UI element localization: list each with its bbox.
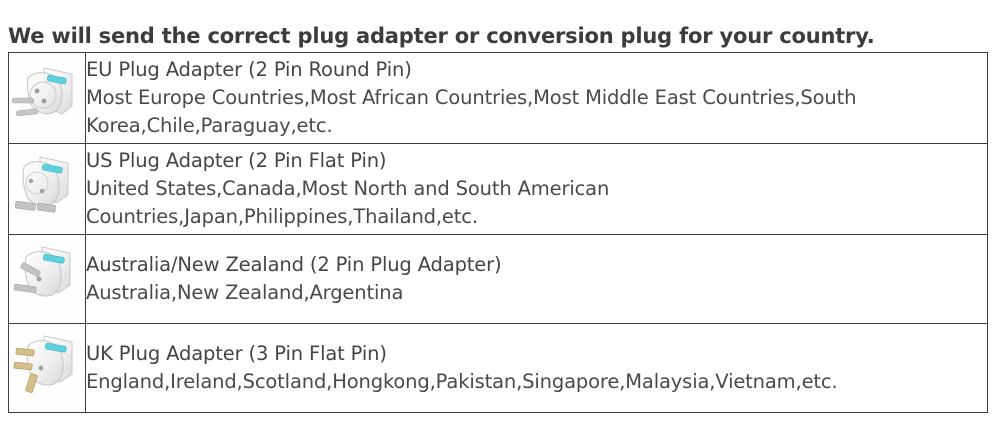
au-nz-plug-adapter-image-cell <box>9 235 86 324</box>
row-detail-line: Australia,New Zealand,Argentina <box>86 279 987 307</box>
row-detail-line: Countries,Japan,Philippines,Thailand,etc… <box>86 203 987 231</box>
uk-plug-adapter-image-cell <box>9 324 86 413</box>
au-nz-plug-adapter-text-cell: Australia/New Zealand (2 Pin Plug Adapte… <box>86 235 988 324</box>
eu-plug-adapter-image <box>10 54 84 138</box>
plug-adapter-table: EU Plug Adapter (2 Pin Round Pin) Most E… <box>8 52 988 413</box>
row-detail-line: Korea,Chile,Paraguay,etc. <box>86 112 987 140</box>
uk-plug-adapter-image <box>10 324 84 408</box>
row-title: US Plug Adapter (2 Pin Flat Pin) <box>86 147 987 175</box>
table-row: UK Plug Adapter (3 Pin Flat Pin) England… <box>9 324 988 413</box>
row-detail-line: Most Europe Countries,Most African Count… <box>86 84 987 112</box>
au-nz-plug-adapter-image <box>10 235 84 319</box>
us-plug-adapter-text-cell: US Plug Adapter (2 Pin Flat Pin) United … <box>86 144 988 235</box>
us-plug-adapter-image-cell <box>9 144 86 235</box>
us-plug-adapter-image <box>10 145 84 229</box>
row-title: Australia/New Zealand (2 Pin Plug Adapte… <box>86 251 987 279</box>
row-title: EU Plug Adapter (2 Pin Round Pin) <box>86 56 987 84</box>
row-detail-line: England,Ireland,Scotland,Hongkong,Pakist… <box>86 368 987 396</box>
table-row: US Plug Adapter (2 Pin Flat Pin) United … <box>9 144 988 235</box>
eu-plug-adapter-image-cell <box>9 53 86 144</box>
row-detail-line: United States,Canada,Most North and Sout… <box>86 175 987 203</box>
table-row: Australia/New Zealand (2 Pin Plug Adapte… <box>9 235 988 324</box>
page-title: We will send the correct plug adapter or… <box>8 24 875 48</box>
row-title: UK Plug Adapter (3 Pin Flat Pin) <box>86 340 987 368</box>
eu-plug-adapter-text-cell: EU Plug Adapter (2 Pin Round Pin) Most E… <box>86 53 988 144</box>
uk-plug-adapter-text-cell: UK Plug Adapter (3 Pin Flat Pin) England… <box>86 324 988 413</box>
table-row: EU Plug Adapter (2 Pin Round Pin) Most E… <box>9 53 988 144</box>
plug-adapter-info-page: We will send the correct plug adapter or… <box>0 0 994 444</box>
